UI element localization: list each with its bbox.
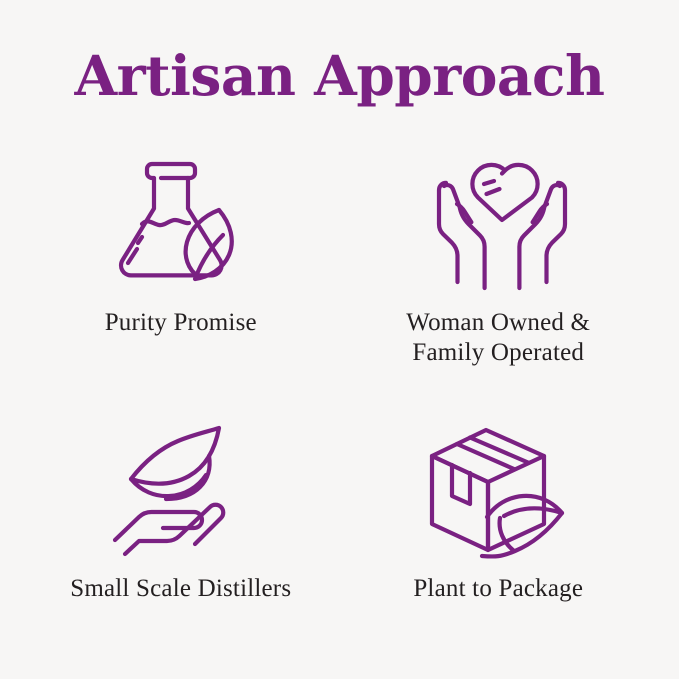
- feature-label: Woman Owned & Family Operated: [406, 308, 590, 368]
- hands-heart-icon: [422, 148, 582, 298]
- box-leaf-icon: [418, 412, 578, 562]
- feature-label: Small Scale Distillers: [70, 574, 291, 604]
- feature-item-purity-promise: Purity Promise: [22, 148, 340, 398]
- flask-leaf-icon: [104, 148, 264, 298]
- feature-grid: Purity Promise: [22, 148, 657, 648]
- feature-label: Purity Promise: [105, 308, 257, 338]
- feature-label: Plant to Package: [413, 574, 583, 604]
- feature-item-woman-owned: Woman Owned & Family Operated: [340, 148, 658, 398]
- artisan-approach-panel: Artisan Approach: [0, 0, 679, 679]
- feature-item-small-scale-distillers: Small Scale Distillers: [22, 412, 340, 648]
- hand-leaf-icon: [101, 412, 261, 562]
- feature-item-plant-to-package: Plant to Package: [340, 412, 658, 648]
- page-title: Artisan Approach: [0, 44, 679, 108]
